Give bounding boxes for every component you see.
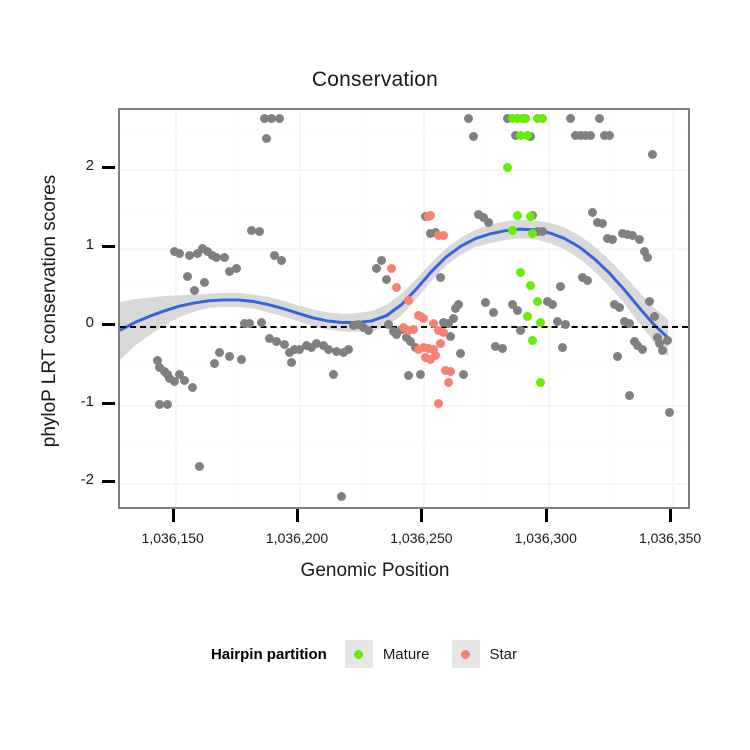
data-point-other xyxy=(190,286,199,295)
confidence-ribbon xyxy=(120,110,688,507)
data-point-other xyxy=(382,275,391,284)
data-point-other xyxy=(188,383,197,392)
x-axis-tick-label: 1,036,300 xyxy=(486,530,606,546)
legend-label: Star xyxy=(490,646,518,663)
data-point-star xyxy=(439,231,448,240)
data-point-star xyxy=(387,264,396,273)
data-point-mature xyxy=(536,318,545,327)
legend-label: Mature xyxy=(383,646,430,663)
data-point-other xyxy=(377,256,386,265)
legend-key xyxy=(345,640,373,668)
data-point-other xyxy=(257,318,266,327)
data-point-other xyxy=(200,278,209,287)
data-point-other xyxy=(588,208,597,217)
x-axis-tick-label: 1,036,200 xyxy=(237,530,357,546)
data-point-other xyxy=(561,320,570,329)
x-axis-tick xyxy=(420,509,423,522)
data-point-mature xyxy=(533,297,542,306)
data-point-mature xyxy=(521,114,530,123)
data-point-other xyxy=(245,319,254,328)
data-point-other xyxy=(658,346,667,355)
data-point-star xyxy=(434,399,443,408)
data-point-other xyxy=(280,340,289,349)
y-axis-tick xyxy=(102,402,115,405)
data-point-other xyxy=(277,256,286,265)
data-point-other xyxy=(645,297,654,306)
data-point-other xyxy=(566,114,575,123)
data-point-other xyxy=(598,219,607,228)
y-axis-tick xyxy=(102,166,115,169)
data-point-other xyxy=(648,150,657,159)
data-point-other xyxy=(454,300,463,309)
data-point-star xyxy=(439,328,448,337)
y-axis-tick-label: 0 xyxy=(8,314,94,331)
x-axis-tick-label: 1,036,250 xyxy=(361,530,481,546)
y-axis-tick xyxy=(102,323,115,326)
x-axis-label: Genomic Position xyxy=(0,560,750,582)
y-axis-tick-label: 1 xyxy=(8,236,94,253)
y-axis-tick-label: 2 xyxy=(8,157,94,174)
data-point-other xyxy=(215,348,224,357)
data-point-other xyxy=(469,132,478,141)
data-point-other xyxy=(372,264,381,273)
data-point-star xyxy=(392,283,401,292)
data-point-mature xyxy=(526,212,535,221)
data-point-other xyxy=(449,314,458,323)
y-axis-tick xyxy=(102,480,115,483)
chart-root: Conservation phyloP LRT conservation sco… xyxy=(0,0,750,750)
legend-title: Hairpin partition xyxy=(211,646,327,663)
data-point-other xyxy=(262,134,271,143)
data-point-other xyxy=(643,253,652,262)
legend-key xyxy=(452,640,480,668)
x-axis-tick xyxy=(545,509,548,522)
data-point-other xyxy=(489,308,498,317)
data-point-other xyxy=(625,319,634,328)
data-point-other xyxy=(548,300,557,309)
data-point-other xyxy=(195,462,204,471)
data-point-other xyxy=(464,114,473,123)
data-point-star xyxy=(419,314,428,323)
x-axis-tick xyxy=(296,509,299,522)
y-axis-tick-label: -2 xyxy=(8,471,94,488)
x-axis-tick-label: 1,036,150 xyxy=(113,530,233,546)
data-point-other xyxy=(586,131,595,140)
plot-panel xyxy=(118,108,690,509)
x-axis-tick xyxy=(669,509,672,522)
data-point-other xyxy=(484,218,493,227)
data-point-other xyxy=(613,352,622,361)
legend-dot-icon xyxy=(461,650,470,659)
y-axis-tick xyxy=(102,245,115,248)
data-point-mature xyxy=(526,281,535,290)
data-point-star xyxy=(404,296,413,305)
legend-dot-icon xyxy=(354,650,363,659)
x-axis-tick xyxy=(172,509,175,522)
chart-title: Conservation xyxy=(0,68,750,92)
x-axis-tick-label: 1,036,350 xyxy=(610,530,730,546)
legend: Hairpin partition MatureStar xyxy=(0,640,750,668)
data-point-other xyxy=(663,336,672,345)
data-point-other xyxy=(287,358,296,367)
y-axis-tick-label: -1 xyxy=(8,393,94,410)
data-point-other xyxy=(220,253,229,262)
data-point-other xyxy=(275,114,284,123)
data-point-other xyxy=(183,272,192,281)
